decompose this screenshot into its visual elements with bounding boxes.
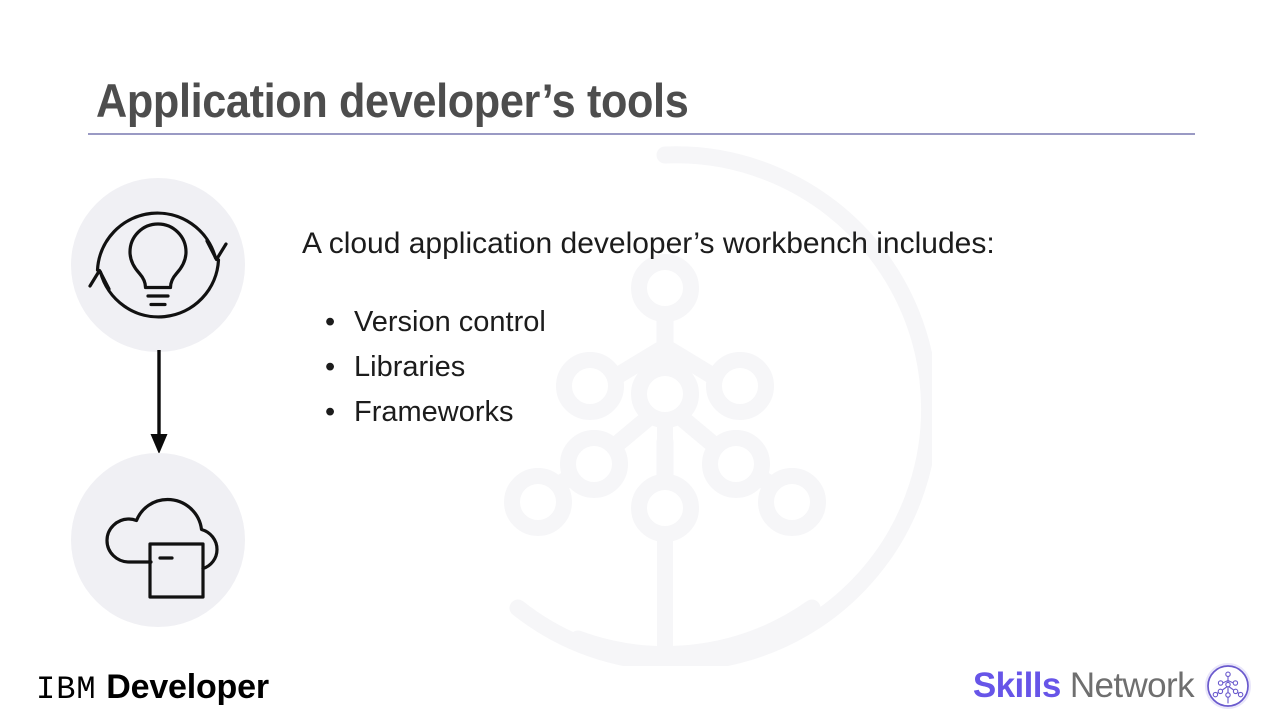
list-item: • Version control [322, 300, 546, 345]
developer-wordmark: Developer [106, 668, 269, 706]
list-item-label: Frameworks [354, 396, 514, 428]
skills-network-tree-icon [1204, 662, 1252, 710]
page-title: Application developer’s tools [96, 72, 688, 130]
bullet-list: • Version control • Libraries • Framewor… [322, 300, 546, 435]
skills-network-logo: Skills Network [973, 660, 1252, 712]
ibm-developer-logo: IBM Developer [36, 666, 269, 711]
bullet-marker-icon: • [325, 345, 335, 390]
list-item: • Libraries [322, 345, 546, 390]
network-wordmark: Network [1070, 666, 1194, 705]
diagram-node-top [71, 178, 245, 352]
list-item: • Frameworks [322, 390, 546, 435]
bullet-marker-icon: • [325, 390, 335, 435]
lead-paragraph: A cloud application developer’s workbenc… [302, 224, 995, 264]
bullet-marker-icon: • [325, 300, 335, 345]
down-arrow-icon [130, 348, 188, 458]
slide-canvas: Application developer’s tools [0, 0, 1280, 720]
skills-network-wordmark: Skills Network [973, 664, 1194, 708]
title-underline-rule [88, 133, 1195, 135]
skills-wordmark: Skills [973, 666, 1061, 705]
cloud-deploy-icon [71, 453, 245, 627]
list-item-label: Version control [354, 306, 546, 338]
diagram-node-bottom [71, 453, 245, 627]
lightbulb-cycle-icon [71, 178, 245, 352]
ibm-wordmark: IBM [36, 671, 97, 708]
list-item-label: Libraries [354, 351, 465, 383]
